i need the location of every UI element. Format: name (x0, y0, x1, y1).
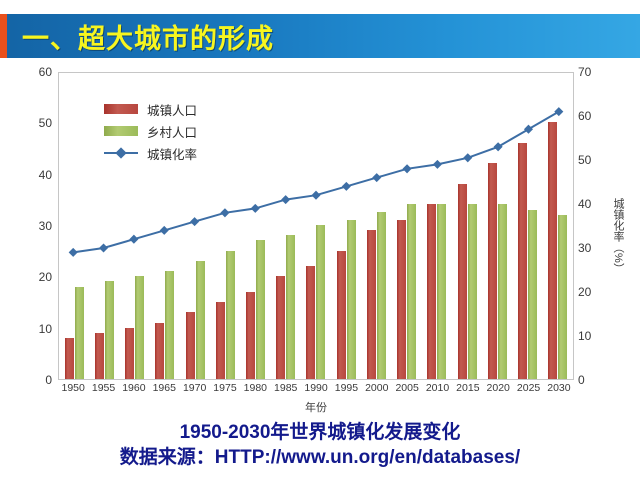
y-tick-primary: 20 (6, 270, 52, 284)
line-marker (69, 248, 78, 257)
legend-item-label: 城镇化率 (147, 144, 197, 163)
caption-title: 1950-2030年世界城镇化发展变化 (0, 420, 640, 445)
line-marker (433, 160, 442, 169)
y-tick-primary: 0 (6, 373, 52, 387)
line-marker (524, 125, 533, 134)
caption-source: 数据来源：HTTP://www.un.org/en/databases/ (0, 445, 640, 471)
x-tick: 2005 (392, 382, 422, 400)
line-marker (99, 243, 108, 252)
line-marker (220, 208, 229, 217)
legend-item-label: 城镇人口 (147, 100, 197, 119)
title-accent-stripe (0, 14, 7, 58)
slide-title-bar: 一、超大城市的形成 (0, 14, 640, 58)
x-tick: 1970 (179, 382, 209, 400)
x-tick: 2000 (362, 382, 392, 400)
chart-container: 人口（亿） 0102030405060 010203040506070 城镇化率… (0, 58, 640, 418)
chart-legend: 城镇人口乡村人口城镇化率 (104, 98, 197, 164)
line-marker (494, 142, 503, 151)
legend-urban-swatch-icon (104, 104, 138, 114)
y-tick-secondary: 60 (578, 109, 624, 123)
y-axis-primary-ticks: 0102030405060 (0, 72, 52, 380)
x-tick: 1960 (119, 382, 149, 400)
y-tick-secondary: 70 (578, 65, 624, 79)
x-tick: 2020 (483, 382, 513, 400)
y-tick-secondary: 20 (578, 285, 624, 299)
y-axis-secondary-label: 城镇化率（%） (610, 198, 626, 274)
line-marker (281, 195, 290, 204)
line-marker (342, 182, 351, 191)
y-tick-primary: 30 (6, 219, 52, 233)
line-marker (554, 107, 563, 116)
x-tick: 2025 (513, 382, 543, 400)
legend-line-icon (104, 148, 138, 158)
line-marker (403, 164, 412, 173)
y-tick-secondary: 50 (578, 153, 624, 167)
x-tick: 1995 (331, 382, 361, 400)
x-axis-ticks: 1950195519601965197019751980198519901995… (58, 382, 574, 400)
x-tick: 1975 (210, 382, 240, 400)
x-tick: 2030 (544, 382, 574, 400)
legend-item: 城镇人口 (104, 98, 197, 120)
page-title: 一、超大城市的形成 (22, 17, 274, 56)
x-tick: 1965 (149, 382, 179, 400)
legend-item-label: 乡村人口 (147, 122, 197, 141)
legend-item: 城镇化率 (104, 142, 197, 164)
line-marker (372, 173, 381, 182)
y-tick-primary: 10 (6, 322, 52, 336)
line-marker (311, 191, 320, 200)
x-tick: 2010 (422, 382, 452, 400)
y-tick-primary: 60 (6, 65, 52, 79)
line-marker (190, 217, 199, 226)
x-tick: 1950 (58, 382, 88, 400)
x-tick: 2015 (453, 382, 483, 400)
chart-caption: 1950-2030年世界城镇化发展变化 数据来源：HTTP://www.un.o… (0, 420, 640, 471)
line-marker (160, 226, 169, 235)
x-tick: 1990 (301, 382, 331, 400)
line-marker (251, 204, 260, 213)
legend-item: 乡村人口 (104, 120, 197, 142)
x-tick: 1980 (240, 382, 270, 400)
y-tick-secondary: 10 (578, 329, 624, 343)
legend-rural-swatch-icon (104, 126, 138, 136)
y-tick-secondary: 0 (578, 373, 624, 387)
x-tick: 1985 (271, 382, 301, 400)
x-tick: 1955 (88, 382, 118, 400)
line-marker (463, 153, 472, 162)
y-tick-primary: 50 (6, 116, 52, 130)
line-marker (129, 235, 138, 244)
x-axis-label: 年份 (58, 399, 574, 415)
y-tick-primary: 40 (6, 168, 52, 182)
